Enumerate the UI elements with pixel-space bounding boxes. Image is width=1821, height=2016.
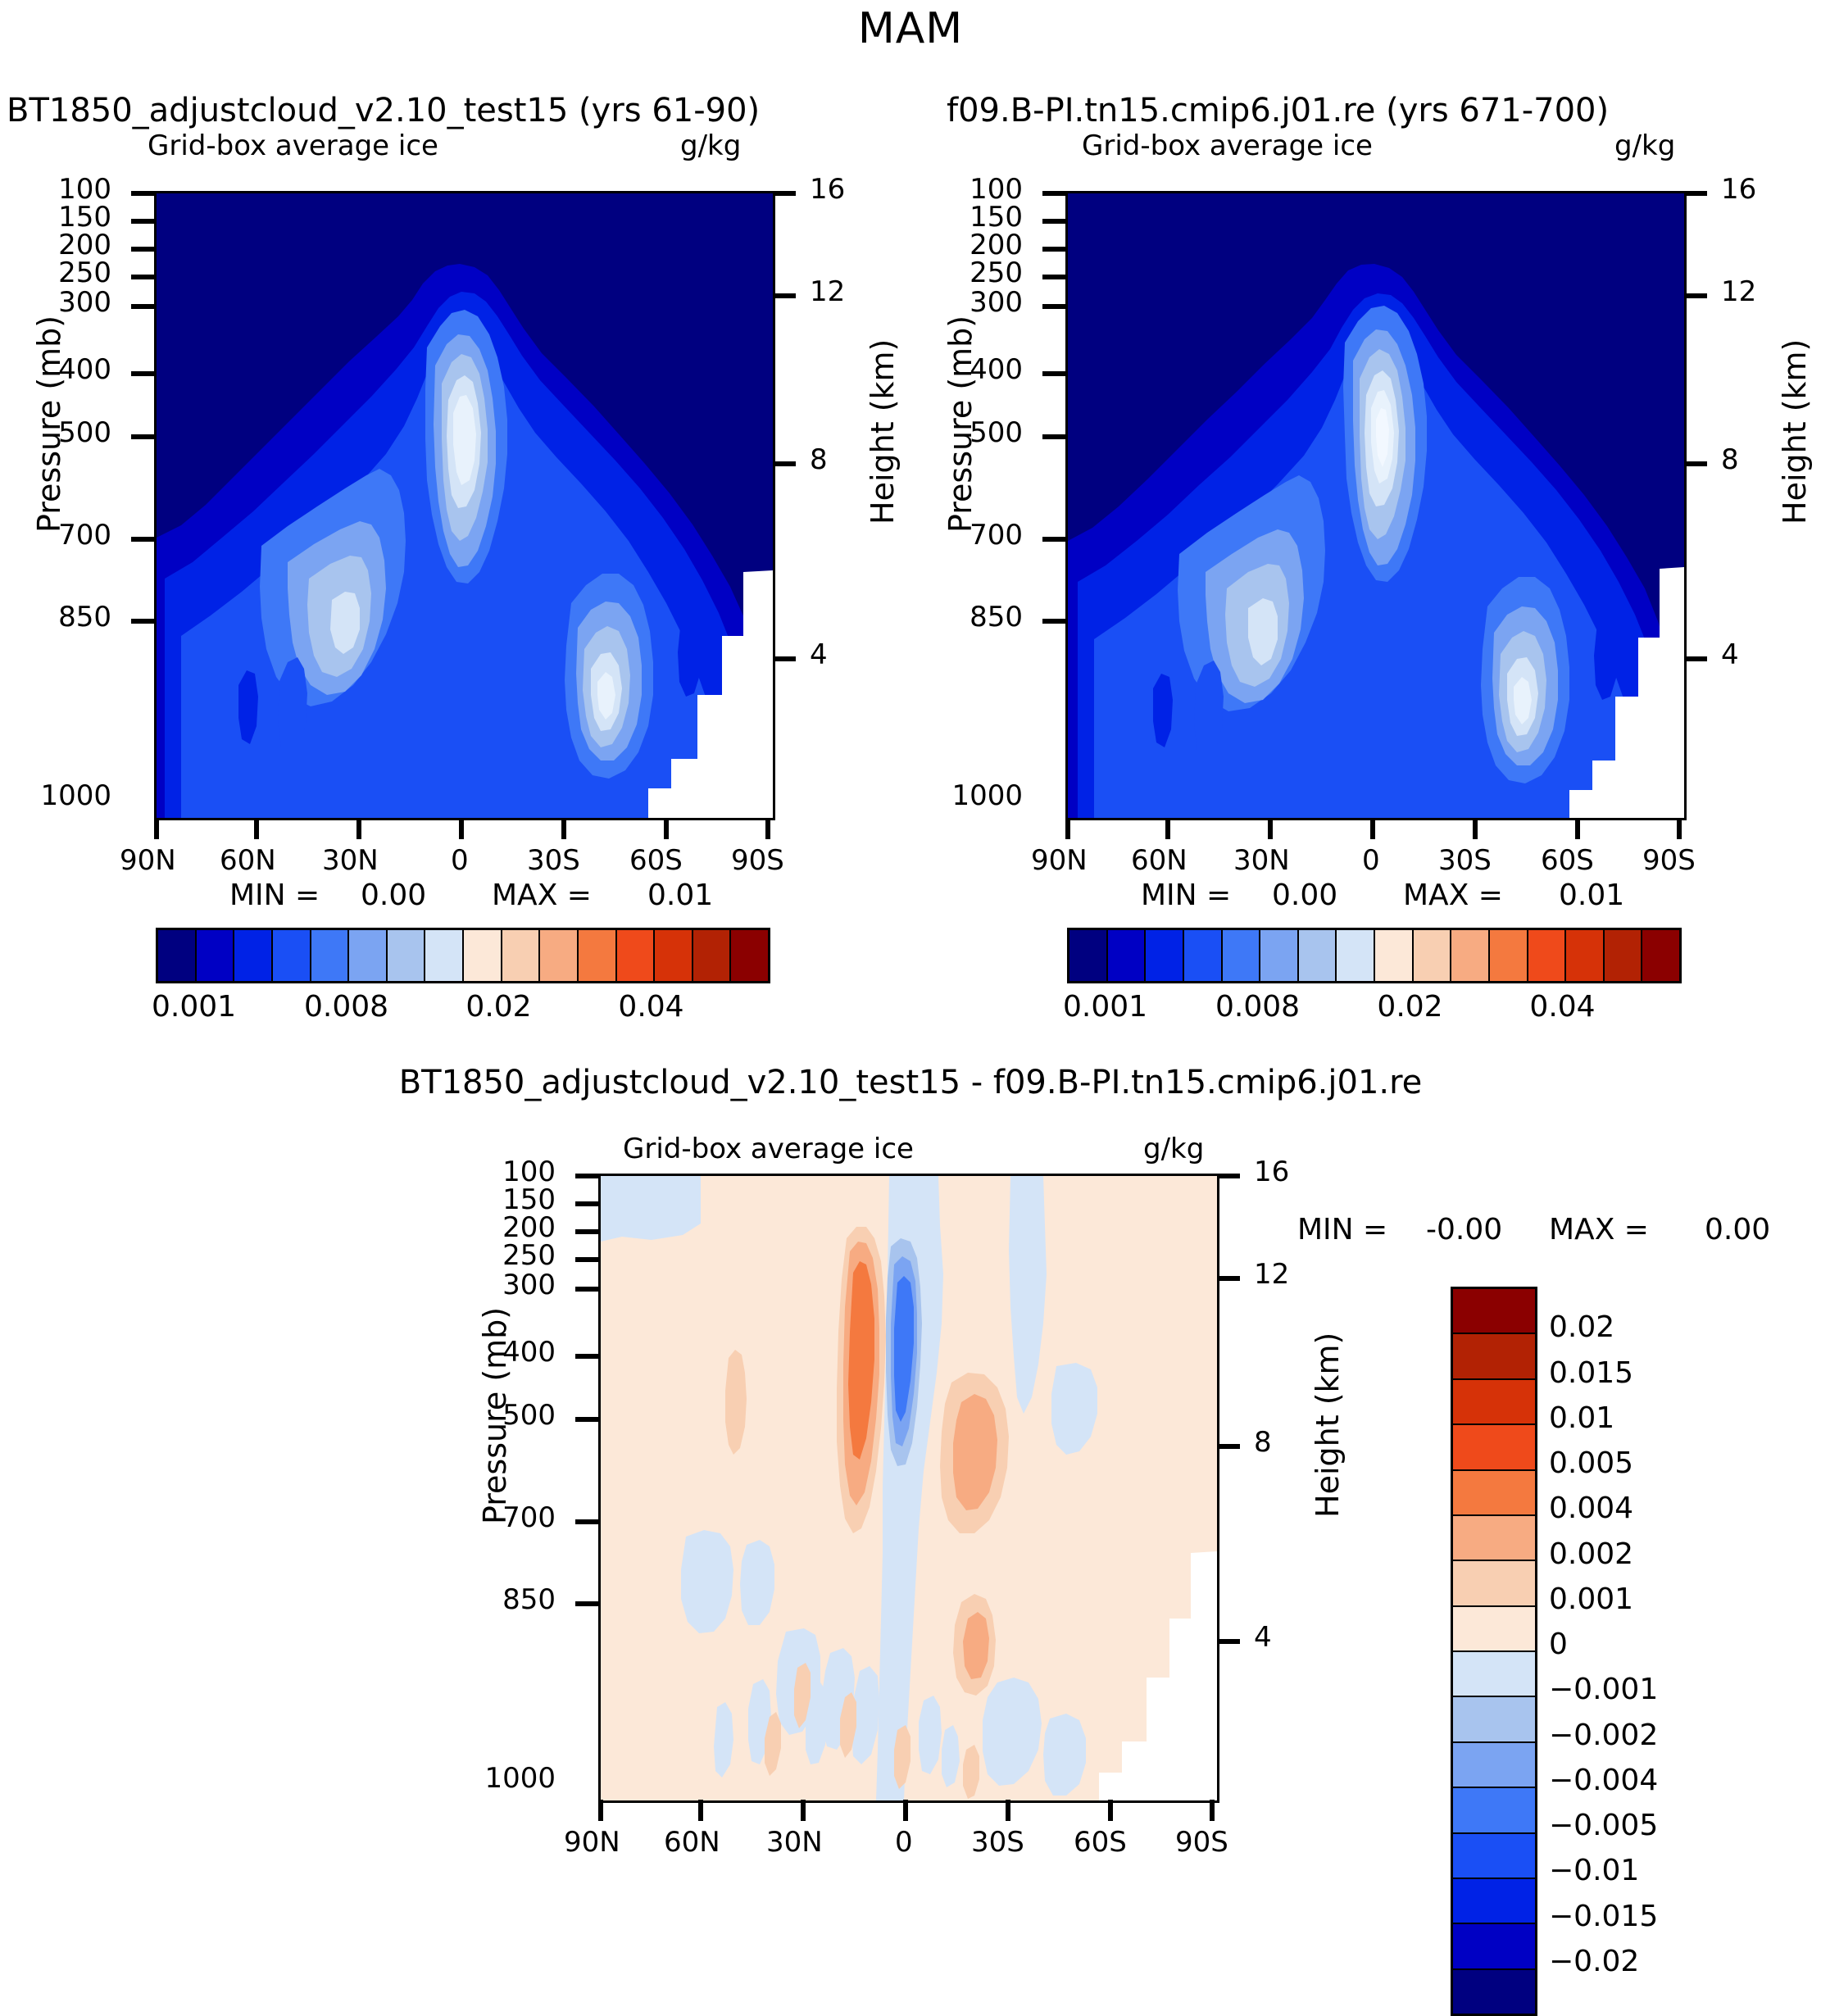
lat-tick-60N-d: 60N <box>664 1826 720 1859</box>
min-label-right: MIN = <box>1141 879 1231 912</box>
colorbar-swatch-7 <box>425 930 464 981</box>
contour-field-diff <box>601 1176 1217 1800</box>
pressure-tick-250-r: 250 <box>970 257 1023 289</box>
lat-tick-0: 0 <box>451 844 469 877</box>
lat-tick-60S-d: 60S <box>1074 1826 1127 1859</box>
lat-tick-0-d: 0 <box>895 1826 913 1859</box>
height-tick-12-r: 12 <box>1721 275 1756 308</box>
pressure-tick-1000: 1000 <box>40 779 111 812</box>
pressure-tick-850: 850 <box>58 601 111 633</box>
lat-tick-30N-r: 30N <box>1233 844 1290 877</box>
colorbar-swatch-6 <box>1299 930 1337 981</box>
colorbar-diff-tick-label-3: 0.005 <box>1549 1446 1633 1480</box>
colorbar-swatch-3 <box>273 930 311 981</box>
colorbar-tick-label-0: 0.001 <box>152 990 236 1024</box>
height-axis-title-diff: Height (km) <box>1310 1333 1346 1518</box>
colorbar-diff-tick-label-13: −0.015 <box>1549 1900 1658 1933</box>
colorbar-diff-tick-label-9: −0.002 <box>1549 1719 1658 1752</box>
height-tick-16: 16 <box>810 173 845 206</box>
max-label-right: MAX = <box>1403 879 1503 912</box>
colorbar-diff-swatch-2 <box>1453 1380 1535 1425</box>
max-value-left: 0.01 <box>647 879 713 912</box>
colorbar-swatch-10 <box>1451 930 1490 981</box>
lat-tick-30N-d: 30N <box>766 1826 823 1859</box>
latitude-axis-left: 90N 60N 30N 0 30S 60S 90S <box>154 818 770 875</box>
lat-tick-0-r: 0 <box>1362 844 1380 877</box>
colorbar-diff-tick-label-2: 0.01 <box>1549 1401 1614 1435</box>
max-label-diff: MAX = <box>1549 1213 1649 1246</box>
colorbar-diff-tick-label-1: 0.015 <box>1549 1356 1633 1390</box>
units-header-left: g/kg <box>680 129 741 162</box>
panel-title-left: BT1850_adjustcloud_v2.10_test15 (yrs 61-… <box>7 92 760 129</box>
pressure-tick-1000-r: 1000 <box>951 779 1023 812</box>
colorbar-swatch-2 <box>1146 930 1184 981</box>
units-header-right: g/kg <box>1614 129 1675 162</box>
colorbar-swatch-1 <box>1108 930 1147 981</box>
colorbar-swatch-15 <box>1642 930 1679 981</box>
colorbar-swatch-5 <box>349 930 388 981</box>
plot-area-left <box>154 191 775 820</box>
variable-header-diff: Grid-box average ice <box>623 1133 914 1165</box>
colorbar-diff-swatch-4 <box>1453 1471 1535 1516</box>
colorbar-swatch-15 <box>731 930 768 981</box>
colorbar-diff-tick-label-8: −0.001 <box>1549 1673 1658 1706</box>
max-value-right: 0.01 <box>1559 879 1624 912</box>
colorbar-diff-swatch-15 <box>1453 1970 1535 2014</box>
height-tick-8-d: 8 <box>1254 1426 1272 1459</box>
lat-tick-30S-d: 30S <box>971 1826 1024 1859</box>
plot-area-diff <box>598 1174 1219 1803</box>
colorbar-diff-swatch-0 <box>1453 1289 1535 1334</box>
colorbar-swatch-4 <box>1223 930 1261 981</box>
panel-title-right: f09.B-PI.tn15.cmip6.j01.re (yrs 671-700) <box>947 92 1609 129</box>
colorbar-diff-tick-label-10: −0.004 <box>1549 1764 1658 1797</box>
lat-tick-60N: 60N <box>220 844 276 877</box>
colorbar-swatch-13 <box>1566 930 1605 981</box>
pressure-tick-250-d: 250 <box>502 1239 556 1272</box>
colorbar-swatch-5 <box>1260 930 1299 981</box>
lat-tick-60N-r: 60N <box>1131 844 1188 877</box>
colorbar-swatch-11 <box>579 930 617 981</box>
colorbar-swatch-4 <box>311 930 350 981</box>
pressure-tick-850-d: 850 <box>502 1583 556 1616</box>
height-tick-12-d: 12 <box>1254 1258 1289 1291</box>
season-title: MAM <box>0 4 1821 53</box>
colorbar-tick-label-2: 0.02 <box>1377 990 1442 1024</box>
colorbar-diff-tick-label-7: 0 <box>1549 1628 1568 1661</box>
colorbar-diff-swatch-8 <box>1453 1652 1535 1697</box>
colorbar-diff-tick-label-6: 0.001 <box>1549 1582 1633 1616</box>
colorbar-swatch-0 <box>158 930 197 981</box>
colorbar-swatch-12 <box>617 930 656 981</box>
colorbar-swatch-11 <box>1490 930 1528 981</box>
lat-tick-30S-r: 30S <box>1438 844 1492 877</box>
colorbar-swatch-7 <box>1337 930 1375 981</box>
min-label-diff: MIN = <box>1297 1213 1387 1246</box>
colorbar-swatch-10 <box>540 930 579 981</box>
height-tick-12: 12 <box>810 275 845 308</box>
min-value-right: 0.00 <box>1272 879 1337 912</box>
pressure-axis-title-diff: Pressure (mb) <box>477 1307 513 1524</box>
colorbar-diff <box>1451 1287 1537 2016</box>
lat-tick-90S: 90S <box>731 844 784 877</box>
height-tick-8: 8 <box>810 443 828 476</box>
colorbar-right <box>1067 928 1682 983</box>
pressure-axis-title-right: Pressure (mb) <box>942 316 979 533</box>
colorbar-right-labels: 0.0010.0080.020.04 <box>1067 990 1677 1028</box>
colorbar-tick-label-0: 0.001 <box>1063 990 1147 1024</box>
variable-header-left: Grid-box average ice <box>148 129 438 162</box>
height-tick-8-r: 8 <box>1721 443 1739 476</box>
min-label-left: MIN = <box>229 879 320 912</box>
lat-tick-90S-r: 90S <box>1642 844 1696 877</box>
latitude-axis-right: 90N 60N 30N 0 30S 60S 90S <box>1065 818 1682 875</box>
pressure-axis-title-left: Pressure (mb) <box>31 316 67 533</box>
colorbar-left-labels: 0.0010.0080.020.04 <box>156 990 765 1028</box>
panel-title-diff: BT1850_adjustcloud_v2.10_test15 - f09.B-… <box>0 1064 1821 1101</box>
colorbar-diff-swatch-1 <box>1453 1334 1535 1379</box>
colorbar-diff-tick-label-5: 0.002 <box>1549 1537 1633 1571</box>
colorbar-diff-labels: 0.020.0150.010.0050.0040.0020.0010−0.001… <box>1549 1287 1778 2011</box>
colorbar-tick-label-3: 0.04 <box>1529 990 1595 1024</box>
colorbar-swatch-9 <box>502 930 541 981</box>
colorbar-tick-label-3: 0.04 <box>618 990 683 1024</box>
colorbar-diff-tick-label-12: −0.01 <box>1549 1854 1639 1887</box>
colorbar-swatch-12 <box>1528 930 1567 981</box>
colorbar-diff-swatch-13 <box>1453 1879 1535 1924</box>
pressure-tick-250: 250 <box>58 257 111 289</box>
colorbar-diff-swatch-5 <box>1453 1516 1535 1561</box>
pressure-tick-850-r: 850 <box>970 601 1023 633</box>
plot-area-right <box>1065 191 1687 820</box>
max-value-diff: 0.00 <box>1705 1213 1770 1246</box>
colorbar-swatch-3 <box>1184 930 1223 981</box>
height-tick-4: 4 <box>810 638 828 671</box>
lat-tick-90S-d: 90S <box>1175 1826 1228 1859</box>
colorbar-diff-tick-label-14: −0.02 <box>1549 1945 1639 1978</box>
colorbar-diff-tick-label-0: 0.02 <box>1549 1310 1614 1344</box>
colorbar-tick-label-1: 0.008 <box>1215 990 1300 1024</box>
lat-tick-60S-r: 60S <box>1541 844 1594 877</box>
colorbar-tick-label-2: 0.02 <box>465 990 531 1024</box>
colorbar-diff-tick-label-4: 0.004 <box>1549 1492 1633 1525</box>
height-axis-title-left: Height (km) <box>865 339 901 524</box>
colorbar-tick-label-1: 0.008 <box>304 990 388 1024</box>
height-tick-16-d: 16 <box>1254 1156 1289 1188</box>
colorbar-swatch-13 <box>655 930 693 981</box>
lat-tick-90N-d: 90N <box>564 1826 620 1859</box>
colorbar-swatch-6 <box>388 930 426 981</box>
colorbar-diff-swatch-6 <box>1453 1561 1535 1606</box>
height-tick-4-r: 4 <box>1721 638 1739 671</box>
colorbar-swatch-2 <box>234 930 273 981</box>
colorbar-diff-swatch-3 <box>1453 1425 1535 1470</box>
colorbar-swatch-14 <box>1605 930 1643 981</box>
pressure-tick-1000-d: 1000 <box>484 1762 556 1795</box>
colorbar-diff-swatch-10 <box>1453 1743 1535 1788</box>
contour-field-right <box>1068 193 1684 818</box>
height-axis-title-right: Height (km) <box>1777 339 1813 524</box>
latitude-axis-diff: 90N 60N 30N 0 30S 60S 90S <box>598 1800 1215 1857</box>
height-tick-16-r: 16 <box>1721 173 1756 206</box>
colorbar-diff-swatch-12 <box>1453 1834 1535 1879</box>
colorbar-diff-swatch-11 <box>1453 1788 1535 1833</box>
lat-tick-90N: 90N <box>120 844 176 877</box>
min-value-left: 0.00 <box>361 879 426 912</box>
colorbar-swatch-1 <box>197 930 235 981</box>
colorbar-diff-tick-label-11: −0.005 <box>1549 1809 1658 1842</box>
colorbar-swatch-8 <box>464 930 502 981</box>
pressure-tick-300-r: 300 <box>970 286 1023 319</box>
height-tick-4-d: 4 <box>1254 1621 1272 1654</box>
colorbar-diff-swatch-9 <box>1453 1697 1535 1742</box>
colorbar-swatch-14 <box>693 930 732 981</box>
lat-tick-60S: 60S <box>629 844 683 877</box>
pressure-tick-300-d: 300 <box>502 1269 556 1301</box>
lat-tick-30S: 30S <box>527 844 580 877</box>
max-label-left: MAX = <box>492 879 592 912</box>
units-header-diff: g/kg <box>1143 1133 1204 1165</box>
pressure-axis-diff: 100 150 200 250 300 400 500 700 850 1000 <box>444 1174 598 1798</box>
variable-header-right: Grid-box average ice <box>1082 129 1373 162</box>
pressure-tick-300: 300 <box>58 286 111 319</box>
colorbar-swatch-0 <box>1069 930 1108 981</box>
colorbar-diff-swatch-7 <box>1453 1607 1535 1652</box>
lat-tick-90N-r: 90N <box>1031 844 1088 877</box>
colorbar-left <box>156 928 770 983</box>
lat-tick-30N: 30N <box>322 844 379 877</box>
pressure-axis-right: 100 150 200 250 300 400 500 700 850 1000 <box>911 191 1065 815</box>
colorbar-diff-swatch-14 <box>1453 1924 1535 1969</box>
min-value-diff: -0.00 <box>1426 1213 1502 1246</box>
colorbar-swatch-8 <box>1375 930 1414 981</box>
colorbar-swatch-9 <box>1414 930 1452 981</box>
contour-field-left <box>157 193 773 818</box>
pressure-axis-left: 100 150 200 250 300 400 500 700 850 1000 <box>0 191 154 815</box>
